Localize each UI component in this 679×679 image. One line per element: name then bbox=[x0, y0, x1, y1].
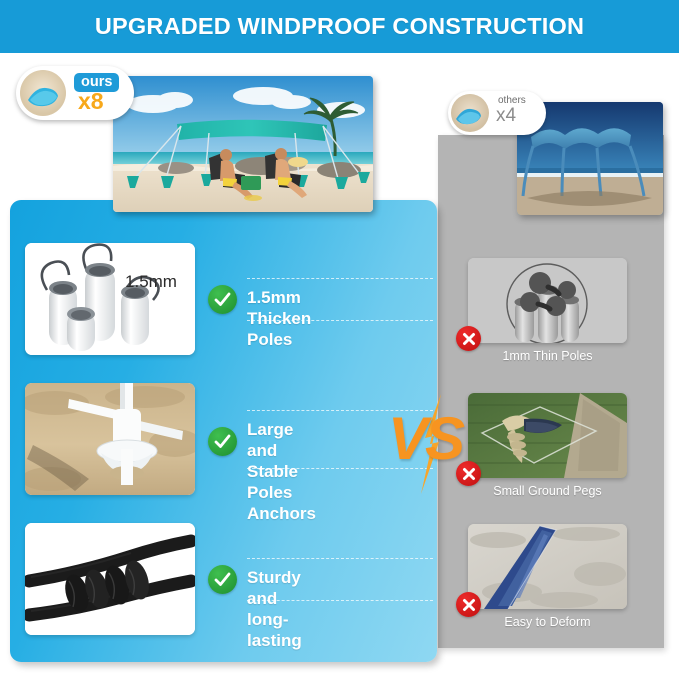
versus-graphic: VS bbox=[386, 398, 481, 490]
sand-anchor-photo bbox=[25, 383, 195, 495]
divider-top bbox=[247, 278, 433, 279]
feature-label-rope: Sturdy and long-lasting bbox=[247, 567, 302, 651]
blue-stake-icon bbox=[451, 94, 489, 132]
divider-top bbox=[247, 558, 433, 559]
x-circle-icon bbox=[456, 326, 481, 351]
thick-poles-photo: 1.5mm bbox=[25, 243, 195, 355]
badge-others: others x4 bbox=[448, 91, 546, 135]
badge-others-count: x4 bbox=[496, 106, 516, 125]
divider-bottom bbox=[247, 320, 433, 321]
con-label-ground-pegs: Small Ground Pegs bbox=[468, 484, 627, 498]
con-label-thin-poles: 1mm Thin Poles bbox=[468, 349, 627, 363]
check-circle-icon bbox=[208, 565, 237, 594]
thin-poles-photo bbox=[468, 258, 627, 343]
deformed-canopy-photo bbox=[468, 524, 627, 609]
header-bar: UPGRADED WINDPROOF CONSTRUCTION bbox=[0, 0, 679, 53]
blue-sand-anchor-icon bbox=[20, 70, 66, 116]
ground-peg-photo bbox=[468, 393, 627, 478]
feature-label-anchors: Large and Stable Poles Anchors bbox=[247, 419, 316, 524]
page-title: UPGRADED WINDPROOF CONSTRUCTION bbox=[95, 13, 584, 40]
beach-canopy-photo bbox=[113, 76, 373, 212]
badge-ours: ours x8 bbox=[16, 66, 134, 120]
divider-bottom bbox=[247, 600, 433, 601]
versus-label: VS bbox=[388, 404, 462, 473]
badge-ours-count: x8 bbox=[78, 90, 104, 113]
check-circle-icon bbox=[208, 427, 237, 456]
rope-knot-photo bbox=[25, 523, 195, 635]
feature-label-thick-poles: 1.5mm Thicken Poles bbox=[247, 287, 311, 350]
x-circle-icon bbox=[456, 592, 481, 617]
con-label-deform: Easy to Deform bbox=[468, 615, 627, 629]
svg-text:1.5mm: 1.5mm bbox=[125, 272, 177, 291]
check-circle-icon bbox=[208, 285, 237, 314]
